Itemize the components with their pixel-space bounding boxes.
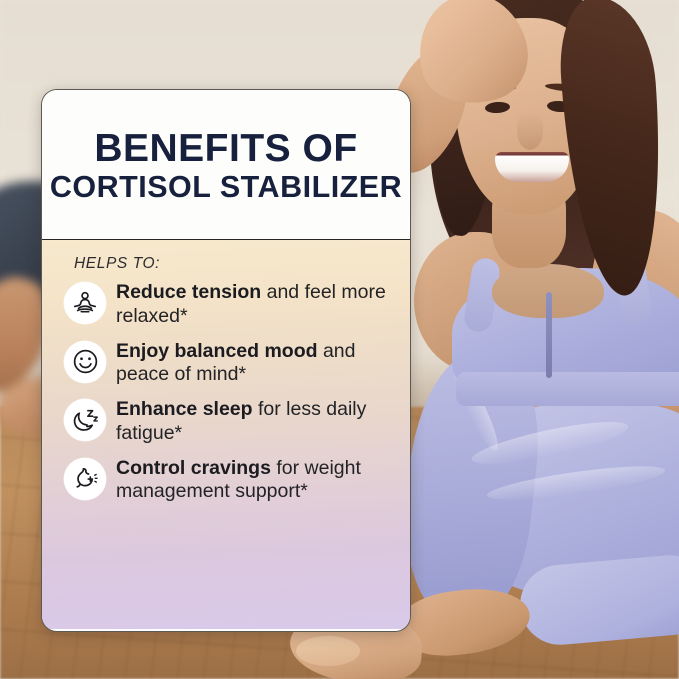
benefit-text: Control cravings for weight management s… bbox=[116, 455, 394, 505]
benefit-text: Reduce tension and feel more relaxed* bbox=[116, 279, 394, 329]
nose bbox=[517, 112, 543, 150]
list-item: Control cravings for weight management s… bbox=[58, 455, 394, 505]
smiling-mouth bbox=[495, 152, 569, 182]
benefit-lead: Enjoy balanced mood bbox=[116, 340, 318, 362]
benefits-card: BENEFITS OF CORTISOL STABILIZER HELPS TO… bbox=[41, 89, 411, 632]
benefit-text: Enjoy balanced mood and peace of mind* bbox=[116, 338, 394, 388]
list-item: Enjoy balanced mood and peace of mind* bbox=[58, 338, 394, 388]
benefit-lead: Reduce tension bbox=[116, 281, 261, 303]
smiley-face-icon bbox=[64, 341, 106, 383]
page-title-line-2: CORTISOL STABILIZER bbox=[50, 172, 402, 204]
stomach-plus-icon bbox=[64, 458, 106, 500]
moon-sleep-zz-icon bbox=[64, 399, 106, 441]
card-header: BENEFITS OF CORTISOL STABILIZER bbox=[42, 90, 410, 240]
toes bbox=[296, 636, 360, 666]
helps-to-label: HELPS TO: bbox=[74, 255, 394, 273]
bra-zipper bbox=[546, 292, 552, 378]
page-title-line-1: BENEFITS OF bbox=[94, 129, 357, 170]
benefits-list: Reduce tension and feel more relaxed* E bbox=[58, 279, 394, 504]
card-body: HELPS TO: Reduce tens bbox=[42, 240, 410, 629]
list-item: Enhance sleep for less daily fatigue* bbox=[58, 396, 394, 446]
benefit-lead: Enhance sleep bbox=[116, 398, 253, 420]
meditation-lotus-icon bbox=[64, 282, 106, 324]
sports-bra-band bbox=[456, 372, 679, 406]
benefit-lead: Control cravings bbox=[116, 457, 271, 479]
benefit-text: Enhance sleep for less daily fatigue* bbox=[116, 396, 394, 446]
promo-graphic: BENEFITS OF CORTISOL STABILIZER HELPS TO… bbox=[0, 0, 679, 679]
list-item: Reduce tension and feel more relaxed* bbox=[58, 279, 394, 329]
